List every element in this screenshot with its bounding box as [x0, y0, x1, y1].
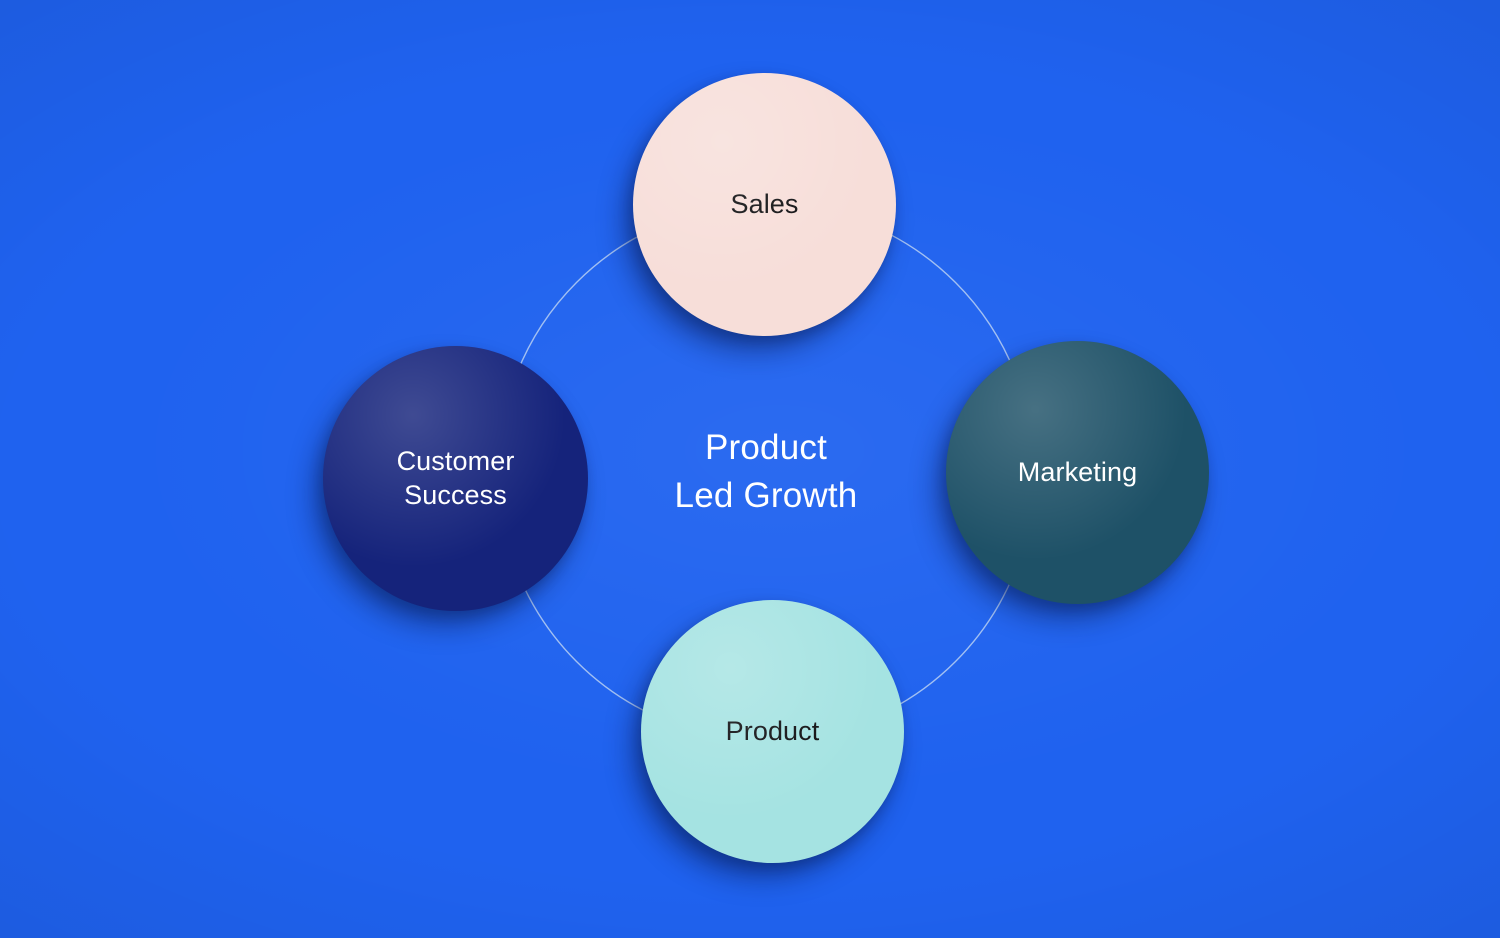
node-product-label: Product: [716, 715, 830, 748]
node-sales[interactable]: Sales: [633, 73, 896, 336]
node-marketing-label: Marketing: [1008, 456, 1147, 489]
node-sales-label: Sales: [720, 188, 808, 221]
center-title: Product Led Growth: [616, 424, 916, 521]
diagram-canvas: Sales Marketing Product Customer Success…: [0, 0, 1500, 938]
node-customer-success[interactable]: Customer Success: [323, 346, 588, 611]
node-marketing[interactable]: Marketing: [946, 341, 1209, 604]
node-customer-success-label: Customer Success: [387, 445, 525, 512]
node-product[interactable]: Product: [641, 600, 904, 863]
